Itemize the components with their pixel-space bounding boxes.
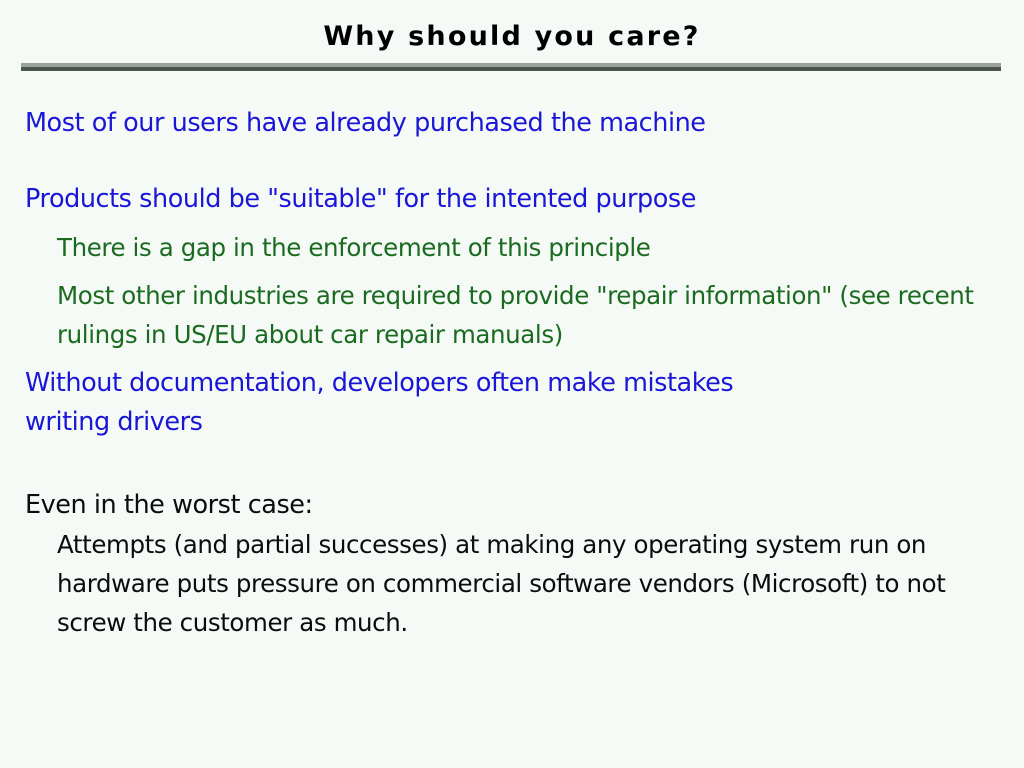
page-title: Why should you care? (0, 22, 1024, 52)
bullet-level2: There is a gap in the enforcement of thi… (57, 228, 1024, 267)
slide: Why should you care? Most of our users h… (0, 0, 1024, 768)
slide-body: Most of our users have already purchased… (0, 104, 1024, 642)
bullet-level2: Attempts (and partial successes) at maki… (57, 525, 947, 642)
bullet-level1: Most of our users have already purchased… (25, 104, 1024, 143)
bullet-level1: Even in the worst case: (25, 486, 1024, 525)
divider-shadow (21, 67, 1001, 71)
bullet-level1: Without documentation, developers often … (25, 364, 815, 442)
bullet-level1: Products should be "suitable" for the in… (25, 180, 1024, 219)
title-divider (21, 63, 1001, 71)
bullet-level2: Most other industries are required to pr… (57, 276, 987, 354)
